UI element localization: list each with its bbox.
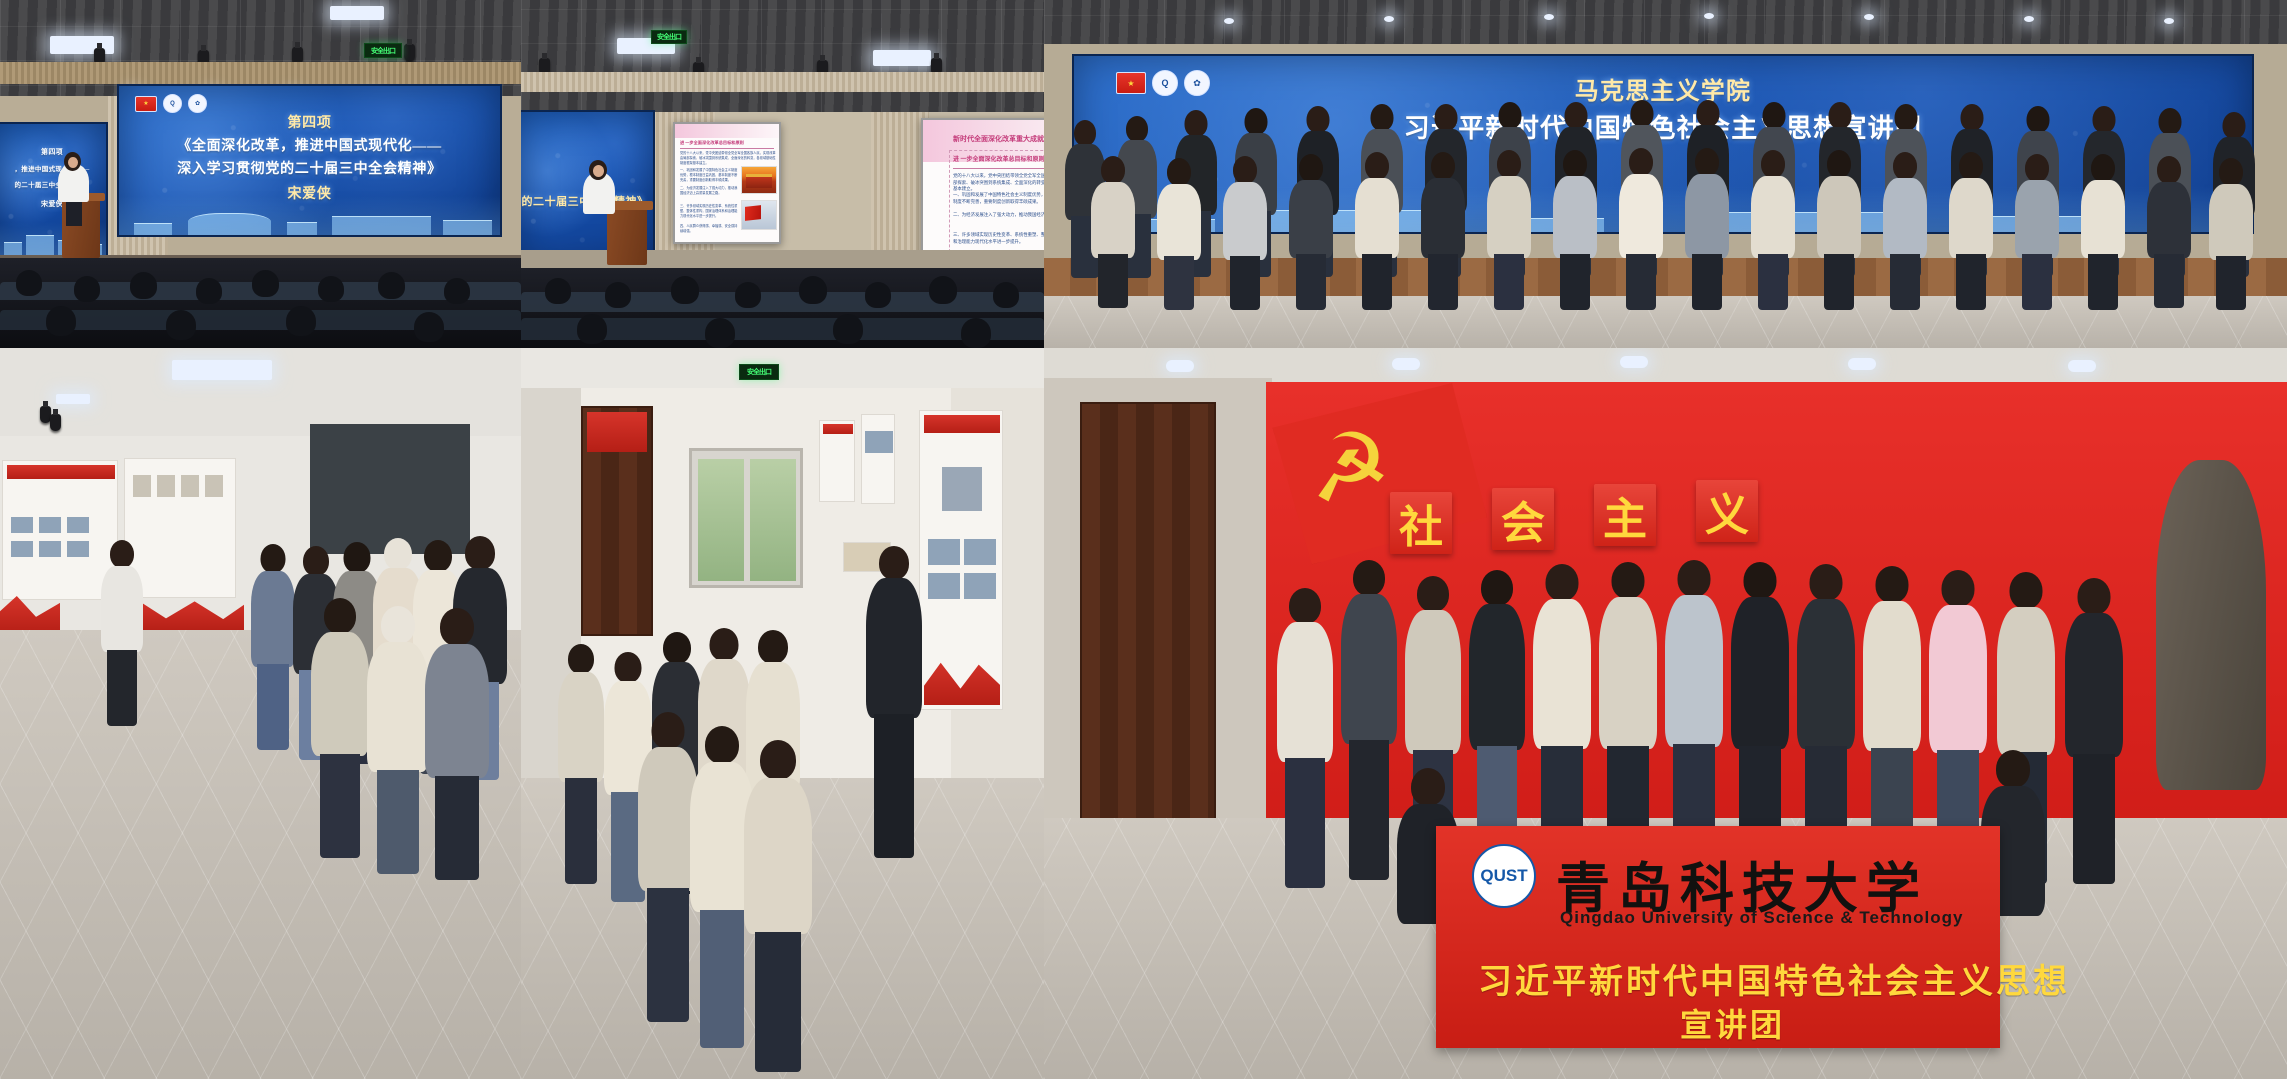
audience-head bbox=[196, 278, 222, 304]
slide-small-item4: 四、人民群众获得感、幸福感、安全感持续增强。 bbox=[680, 224, 738, 234]
student bbox=[250, 544, 296, 750]
exhibit-photo bbox=[181, 475, 199, 497]
side-screen-line1: 第四项 bbox=[0, 148, 106, 156]
ceiling-soffit bbox=[521, 348, 1044, 392]
screen-emblems: ★ Q ✿ bbox=[135, 94, 207, 113]
ceiling-downlight bbox=[1864, 14, 1874, 20]
group-member bbox=[2080, 154, 2126, 308]
ceiling-downlight bbox=[2024, 16, 2034, 22]
audience-head bbox=[130, 272, 157, 299]
audience-head bbox=[671, 276, 699, 304]
ceiling-downlight bbox=[1704, 13, 1714, 19]
group-member bbox=[1156, 158, 1202, 308]
hammer-sickle-icon: ☭ bbox=[1303, 418, 1395, 518]
panel-lecture-hall-wide-shot: 安全出口 第四项 ，推进中国式现代化—— 的二十届三中全会精神》 宋爱侠 bbox=[0, 0, 521, 348]
audience-head bbox=[929, 276, 957, 304]
wall-char-tile: 主 bbox=[1594, 484, 1656, 546]
main-screen-line1: 第四项 bbox=[119, 116, 500, 133]
exit-sign-label: 安全出口 bbox=[657, 32, 681, 42]
audience-head bbox=[799, 276, 827, 304]
exhibit-photo bbox=[67, 541, 89, 557]
group-member bbox=[1340, 560, 1398, 880]
group-member bbox=[1684, 148, 1730, 308]
audience-head bbox=[414, 312, 444, 342]
exit-sign: 安全出口 bbox=[364, 43, 402, 58]
qust-logo-text: QUST bbox=[1480, 866, 1527, 886]
slide-large-intro: 党的十八大以来，党中央团结带领全党全军全国各族人民，实现改革由局部探索、破冰突围… bbox=[953, 173, 1044, 193]
group-member bbox=[1750, 150, 1796, 308]
group-member bbox=[1222, 156, 1268, 308]
presenter bbox=[865, 546, 923, 858]
audience-head bbox=[46, 306, 76, 336]
exit-sign-label: 安全出口 bbox=[371, 46, 395, 56]
group-member bbox=[1486, 150, 1532, 308]
audience-head bbox=[286, 306, 316, 336]
slide-large-badge: 新时代全面深化改革重大成就 bbox=[953, 134, 1044, 144]
qust-logo-icon: Q bbox=[163, 94, 182, 113]
ceiling-light bbox=[2068, 360, 2096, 372]
podium bbox=[607, 205, 647, 265]
wall-char-tile: 义 bbox=[1696, 480, 1758, 542]
exhibit-photo bbox=[157, 475, 175, 497]
audience-head bbox=[16, 270, 42, 296]
window-frame bbox=[689, 448, 803, 588]
youth-league-flag-emblem: ★ bbox=[135, 96, 157, 112]
audience-head bbox=[318, 276, 344, 302]
board-photo bbox=[964, 539, 996, 565]
audience-head bbox=[444, 278, 470, 304]
side-screen-line2: ，推进中国式现代化—— bbox=[0, 166, 106, 174]
audience-head bbox=[378, 272, 405, 299]
student bbox=[424, 608, 490, 880]
student bbox=[366, 606, 430, 874]
audience-head bbox=[74, 276, 100, 302]
tour-guide bbox=[100, 540, 144, 726]
group-member bbox=[2208, 158, 2254, 308]
exhibit-photo bbox=[67, 517, 89, 533]
slide-small-item3: 三、许多领域实现历史性变革、系统性重塑、整体性重构，国家治理体系和治理能力现代化… bbox=[680, 204, 738, 218]
window-glass bbox=[698, 459, 744, 581]
group-member bbox=[1552, 150, 1598, 308]
panel-lecture-hall-slide-detail: 安全出口 的二十届三中全会精神》 进 一步全面深化改革总目标和原则 党的十八大以… bbox=[521, 0, 1044, 348]
display-board bbox=[861, 414, 895, 504]
exhibit-photo bbox=[11, 541, 33, 557]
audience-head bbox=[577, 314, 607, 344]
banner-slogan-line2: 宣讲团 bbox=[1680, 1000, 1785, 1046]
spotlight-icon bbox=[50, 414, 61, 431]
board-photo bbox=[928, 539, 960, 565]
ceiling-light bbox=[1166, 360, 1194, 372]
main-screen-line2: 《全面深化改革，推进中国式现代化—— bbox=[119, 139, 500, 156]
portrait-photo bbox=[942, 467, 982, 511]
group-member bbox=[1288, 154, 1334, 308]
exit-sign: 安全出口 bbox=[739, 364, 779, 380]
ceiling-light bbox=[1620, 356, 1648, 368]
audience-head bbox=[833, 314, 863, 344]
board-photo bbox=[964, 573, 996, 599]
slide-small-intro: 党的十八大以来，党中央团结带领全党全军全国各族人民，实现改革由局部探索、破冰突围… bbox=[680, 151, 778, 165]
slide-large-item1: 一、巩固和发展了中国特色社会主义制度优势，根本制度日益巩固，基本制度不断完善，重… bbox=[953, 192, 1044, 205]
main-led-screen: ★ Q ✿ 第四项 《全面深化改革，推进中国式现代化—— 深入学习贯彻党的二十届… bbox=[117, 84, 502, 237]
ceiling-light bbox=[172, 360, 272, 380]
panel-group-photo-lecture-hall: ★ Q ✿ 马克思主义学院 习近平新时代中国特色社会主义思想宣讲团 bbox=[1044, 0, 2287, 348]
ceiling-light bbox=[1848, 358, 1876, 370]
main-screen-line3: 深入学习贯彻党的二十届三中全会精神》 bbox=[119, 162, 500, 179]
banner-slogan-line1: 习近平新时代中国特色社会主义思想 bbox=[1478, 954, 2070, 1003]
group-member bbox=[2146, 156, 2192, 308]
audience-head bbox=[735, 282, 761, 308]
exit-sign: 安全出口 bbox=[651, 30, 687, 44]
portrait-board bbox=[919, 410, 1003, 710]
audience-head bbox=[166, 310, 196, 340]
spotlight-icon bbox=[404, 44, 415, 61]
slide-large-item2: 二、为经济发展注入了强大动力，推动我国经济迈上高质量发展之路。 bbox=[953, 212, 1044, 219]
group-member bbox=[1882, 152, 1928, 308]
wall-char-tile: 会 bbox=[1492, 488, 1554, 550]
group-member bbox=[1816, 150, 1862, 308]
ceiling-light bbox=[56, 394, 90, 404]
group-member bbox=[1276, 588, 1334, 888]
skyline-graphic bbox=[119, 196, 500, 235]
exhibit-photo bbox=[205, 475, 223, 497]
university-banner: QUST 青岛科技大学 Qingdao University of Scienc… bbox=[1436, 826, 2000, 1048]
ceiling-light bbox=[1392, 358, 1420, 370]
ceiling-downlight bbox=[2164, 18, 2174, 24]
panel-corridor-briefing: 安全出口 bbox=[521, 348, 1044, 1079]
screen-emblems: ★ Q ✿ bbox=[1116, 70, 1210, 96]
dark-wall-panel bbox=[310, 424, 470, 554]
door-poster bbox=[587, 412, 647, 452]
slide-small-item1: 一、巩固和发展了中国特色社会主义制度优势，根本制度日益巩固，基本制度不断完善，重… bbox=[680, 168, 738, 182]
exhibit-red-header bbox=[7, 465, 115, 479]
exhibit-photo bbox=[11, 517, 33, 533]
audience-head bbox=[865, 282, 891, 308]
seat-row bbox=[521, 292, 1044, 312]
exhibit-photo bbox=[39, 517, 61, 533]
projector-slide-small: 进 一步全面深化改革总目标和原则 党的十八大以来，党中央团结带领全党全军全国各族… bbox=[673, 122, 781, 244]
student bbox=[310, 598, 370, 858]
bronze-statue bbox=[2156, 460, 2266, 790]
group-member bbox=[1948, 152, 1994, 308]
student bbox=[743, 740, 813, 1072]
panel-group-photo-red-wall: ☭ 社 会 主 义 QUST 青岛科技大学 Qingdao University bbox=[1044, 348, 2287, 1079]
tiananmen-photo bbox=[741, 166, 777, 194]
main-screen-line4: 宋爱侠 bbox=[119, 187, 500, 204]
youth-league-flag-emblem: ★ bbox=[1116, 72, 1146, 94]
audience-head bbox=[705, 318, 735, 348]
audience-head bbox=[252, 270, 279, 297]
slide-small-title: 进 一步全面深化改革总目标和原则 bbox=[680, 140, 744, 146]
group-member bbox=[2064, 578, 2124, 884]
national-flag-photo bbox=[741, 200, 777, 230]
ceiling-light bbox=[330, 6, 384, 20]
ceiling-downlight bbox=[1544, 14, 1554, 20]
slide-large-title: 进 一步全面深化改革总目标和原则 bbox=[953, 154, 1044, 163]
wall-char-tile: 社 bbox=[1390, 492, 1452, 554]
qust-logo-icon: Q bbox=[1152, 70, 1178, 96]
group-member bbox=[1420, 152, 1466, 308]
ceiling-downlight bbox=[1384, 16, 1394, 22]
qust-logo-icon: QUST bbox=[1472, 844, 1536, 908]
exit-sign-label: 安全出口 bbox=[747, 367, 771, 377]
slide-small-item2: 二、为经济发展注入了强大动力，推动我国经济迈上高质量发展之路。 bbox=[680, 186, 738, 196]
ceiling-downlight bbox=[1224, 18, 1234, 24]
audience-head bbox=[545, 278, 571, 304]
ceiling-light bbox=[873, 50, 931, 66]
exhibit-photo bbox=[39, 541, 61, 557]
board-header bbox=[924, 415, 1000, 433]
student bbox=[557, 644, 605, 884]
board-photo bbox=[928, 573, 960, 599]
group-member bbox=[1090, 156, 1136, 306]
audience-head bbox=[993, 282, 1019, 308]
group-member bbox=[2014, 154, 2060, 308]
slide-large-item3: 三、许多领域实现历史性变革、系统性重塑、整体性重构，国家治理体系和治理能力现代化… bbox=[953, 232, 1044, 245]
exhibit-photo bbox=[133, 475, 151, 497]
school-seal-icon: ✿ bbox=[1184, 70, 1210, 96]
school-seal-icon: ✿ bbox=[188, 94, 207, 113]
display-board bbox=[819, 420, 855, 502]
speaker-face bbox=[68, 157, 78, 168]
panel-exhibition-hall-tour bbox=[0, 348, 521, 1079]
photo-collage: 安全出口 第四项 ，推进中国式现代化—— 的二十届三中全会精神》 宋爱侠 bbox=[0, 0, 2287, 1079]
group-member bbox=[1354, 152, 1400, 308]
group-member bbox=[1618, 148, 1664, 308]
speaker-face bbox=[593, 165, 604, 177]
audience-head bbox=[605, 282, 631, 308]
audience-head bbox=[961, 318, 991, 348]
window-glass bbox=[750, 459, 796, 581]
board-footer-graphic bbox=[924, 657, 1000, 705]
university-name-en: Qingdao University of Science & Technolo… bbox=[1560, 908, 1963, 928]
side-screen-line3: 的二十届三中全会精神》 bbox=[0, 182, 106, 190]
